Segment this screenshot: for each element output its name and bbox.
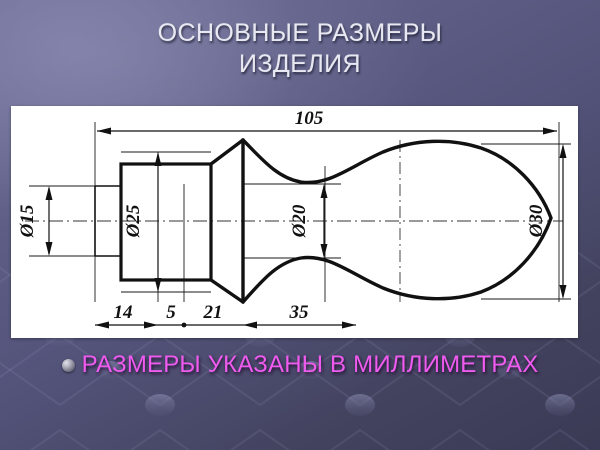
dimension-label-d30: Ø30: [526, 204, 547, 238]
arrowhead-up-icon: [46, 186, 53, 200]
arrowhead-left-icon: [97, 128, 111, 135]
technical-drawing-panel: 105 Ø15 Ø25 Ø20: [11, 106, 578, 338]
slide-canvas: ОСНОВНЫЕ РАЗМЕРЫ ИЗДЕЛИЯ: [0, 0, 600, 450]
dimension-diameter-25: Ø25: [123, 152, 162, 292]
dimension-label-d15: Ø15: [17, 204, 38, 238]
arrowhead-left-icon: [243, 322, 257, 329]
dimension-label-35: 35: [289, 302, 310, 323]
bullet-row: РАЗМЕРЫ УКАЗАНЫ В МИЛЛИМЕТРАХ: [0, 348, 600, 382]
dimension-label-5: 5: [166, 302, 176, 323]
dimension-tick-dot: [182, 323, 187, 328]
sphere-bullet-icon: [62, 359, 75, 372]
slide-title-line-1: ОСНОВНЫЕ РАЗМЕРЫ: [0, 18, 600, 49]
dimension-label-21: 21: [203, 302, 223, 323]
dimension-lengths-row: 14 5 21 35: [95, 302, 356, 329]
arrowhead-right-icon: [144, 322, 158, 329]
arrowhead-up-icon: [155, 152, 162, 166]
arrowhead-up-icon: [321, 184, 328, 198]
arrowhead-down-icon: [46, 242, 53, 256]
dimension-label-d25: Ø25: [123, 204, 144, 238]
bullet-text: РАЗМЕРЫ УКАЗАНЫ В МИЛЛИМЕТРАХ: [82, 351, 539, 379]
arrowhead-right-icon: [543, 128, 557, 135]
dimension-label-d20: Ø20: [289, 204, 310, 238]
slide-title-line-2: ИЗДЕЛИЯ: [0, 49, 600, 80]
arrowhead-right-icon: [342, 322, 356, 329]
dimension-label-14: 14: [114, 302, 133, 323]
technical-drawing-svg: 105 Ø15 Ø25 Ø20: [11, 106, 578, 338]
arrowhead-down-icon: [560, 285, 567, 299]
arrowhead-down-icon: [321, 244, 328, 258]
dimension-diameter-15: Ø15: [17, 186, 53, 256]
slide-title: ОСНОВНЫЕ РАЗМЕРЫ ИЗДЕЛИЯ: [0, 18, 600, 80]
dimension-overall-length: 105: [97, 108, 557, 135]
arrowhead-down-icon: [155, 278, 162, 292]
dimension-diameter-30: Ø30: [526, 144, 567, 299]
arrowhead-up-icon: [560, 144, 567, 158]
arrowhead-left-icon: [95, 322, 109, 329]
dimension-label-105: 105: [295, 108, 324, 129]
